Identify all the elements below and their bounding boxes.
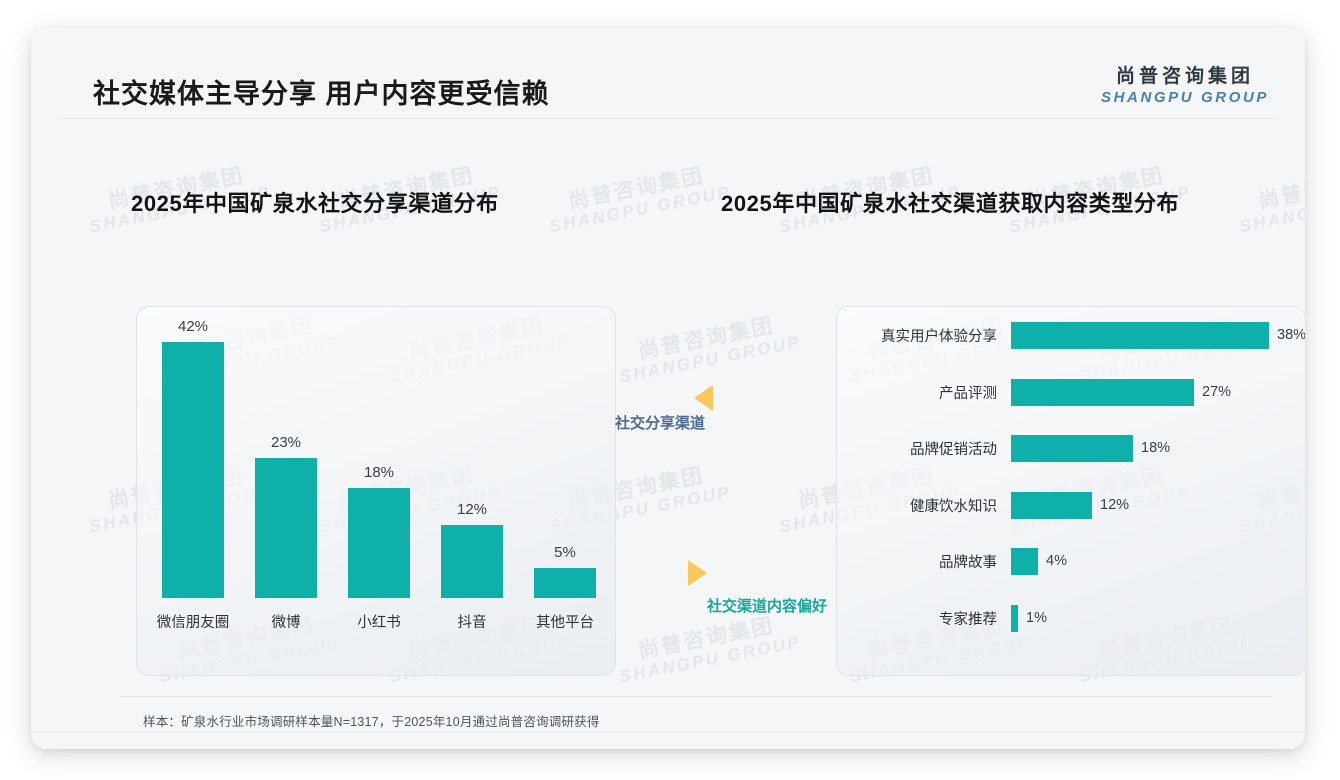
social-share-channel-bar-chart: 42%微信朋友圈23%微博18%小红书12%抖音5%其他平台 [136,290,616,640]
bar [534,568,596,598]
left-chart-title: 2025年中国矿泉水社交分享渠道分布 [131,186,499,218]
bar [1011,605,1018,632]
bar-value-label: 5% [554,544,576,561]
category-axis-label: 健康饮水知识 [836,495,1011,516]
bar-value-label: 12% [457,501,487,518]
category-axis-label: 品牌促销活动 [836,438,1011,459]
bar-column: 42% [162,318,224,598]
bar-row: 健康饮水知识12% [836,490,1305,520]
sample-footnote: 样本：矿泉水行业市场调研样本量N=1317，于2025年10月通过尚普咨询调研获… [143,711,600,730]
bar [1011,492,1092,519]
bar [1011,435,1133,462]
annotation-label-content-preference: 社交渠道内容偏好 [707,595,827,616]
bar [348,488,410,598]
footer-divider [31,732,1305,733]
category-axis-label: 产品评测 [836,382,1011,403]
watermark-text: 尚普咨询集团SHANGPU GROUP [544,161,733,237]
content-type-bar-chart: 真实用户体验分享38%产品评测27%品牌促销活动18%健康饮水知识12%品牌故事… [836,320,1305,650]
bar-row: 品牌故事4% [836,546,1305,576]
header-divider [63,118,1273,119]
bar-value-label: 12% [1100,497,1129,513]
bar-value-label: 4% [1046,553,1067,569]
bar-value-label: 42% [178,318,208,335]
watermark-text: 尚普咨询集团SHANGPU GROUP [614,311,803,387]
bar-row: 真实用户体验分享38% [836,320,1305,350]
bar-column: 18% [348,464,410,598]
category-axis-label: 其他平台 [505,611,625,632]
slide-header: 社交媒体主导分享 用户内容更受信赖 尚普咨询集团 SHANGPU GROUP [31,28,1305,118]
bar [162,342,224,598]
bar-value-label: 23% [271,434,301,451]
triangle-right-icon [688,560,707,586]
watermark-text: 尚普咨询集团SHANGPU GROUP [1234,161,1305,237]
footnote-divider [120,696,1274,697]
bar-value-label: 1% [1026,610,1047,626]
bar [1011,548,1038,575]
bar [441,525,503,598]
logo-chinese-text: 尚普咨询集团 [1101,66,1269,88]
bar-row: 品牌促销活动18% [836,433,1305,463]
bar [255,458,317,598]
bar-row: 产品评测27% [836,377,1305,407]
footer-website: www.shangpu-china.com [1124,747,1264,749]
bar [1011,322,1269,349]
bar-column: 12% [441,501,503,598]
category-axis-label: 专家推荐 [836,608,1011,629]
bar-value-label: 18% [1141,440,1170,456]
bar-value-label: 27% [1202,384,1231,400]
slide-card: 尚普咨询集团SHANGPU GROUP尚普咨询集团SHANGPU GROUP尚普… [31,28,1305,749]
bar-value-label: 18% [364,464,394,481]
bar-column: 23% [255,434,317,598]
category-axis-label: 品牌故事 [836,551,1011,572]
watermark-text: 尚普咨询集团SHANGPU GROUP [614,611,803,687]
bar [1011,379,1194,406]
brand-logo: 尚普咨询集团 SHANGPU GROUP [1101,66,1269,107]
bar-value-label: 38% [1277,327,1305,343]
bar-column: 5% [534,544,596,598]
annotation-label-share-channel: 社交分享渠道 [615,412,705,433]
right-chart-title: 2025年中国矿泉水社交渠道获取内容类型分布 [721,186,1179,218]
bar-row: 专家推荐1% [836,603,1305,633]
category-axis-label: 真实用户体验分享 [836,325,1011,346]
triangle-left-icon [694,385,713,411]
logo-english-text: SHANGPU GROUP [1101,89,1269,107]
page-title: 社交媒体主导分享 用户内容更受信赖 [93,72,550,111]
footer-copyright: ©2025.12 SHANGPU GROUP [103,747,272,749]
